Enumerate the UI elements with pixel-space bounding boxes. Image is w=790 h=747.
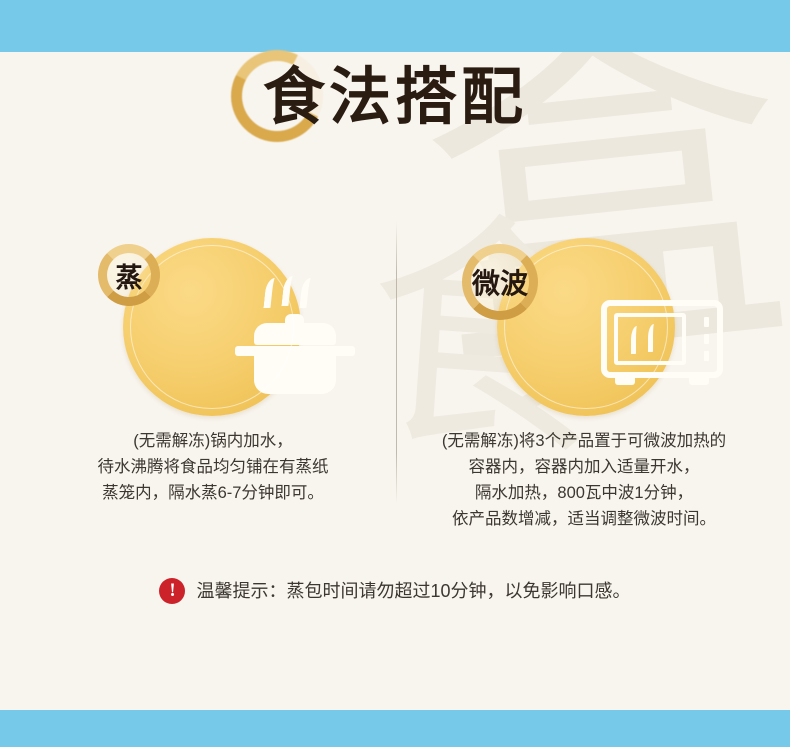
steam-wisp-icon bbox=[263, 278, 280, 308]
microwave-instruction-line: (无需解冻)将3个产品置于可微波加热的 bbox=[414, 428, 754, 454]
steaming-pot-icon bbox=[235, 276, 355, 394]
page-title: 食法搭配 bbox=[263, 60, 527, 136]
microwave-label-text: 微波 bbox=[472, 262, 528, 302]
microwave-door bbox=[614, 313, 686, 365]
steam-wisp-icon bbox=[631, 326, 641, 354]
steam-label-badge: 蒸 bbox=[98, 244, 160, 306]
microwave-control-dash bbox=[704, 351, 709, 361]
steam-wisp-icon bbox=[281, 276, 298, 306]
steam-instruction-line: (无需解冻)锅内加水， bbox=[48, 428, 378, 454]
steam-instruction-line: 蒸笼内，隔水蒸6-7分钟即可。 bbox=[48, 480, 378, 506]
warning-tip: ! 温馨提示：蒸包时间请勿超过10分钟，以免影响口感。 bbox=[0, 578, 790, 604]
microwave-foot bbox=[615, 378, 635, 385]
top-color-band bbox=[0, 0, 790, 52]
section-title: 食法搭配 bbox=[0, 60, 790, 136]
microwave-control-dash bbox=[704, 334, 709, 344]
microwave-instructions: (无需解冻)将3个产品置于可微波加热的 容器内，容器内加入适量开水， 隔水加热，… bbox=[414, 428, 754, 532]
bottom-color-band bbox=[0, 710, 790, 747]
steam-instruction-line: 待水沸腾将食品均匀铺在有蒸纸 bbox=[48, 454, 378, 480]
steam-icon-row: 蒸 bbox=[40, 238, 385, 420]
microwave-icon-row: 微波 bbox=[410, 238, 755, 420]
microwave-label-badge: 微波 bbox=[462, 244, 538, 320]
steam-instructions: (无需解冻)锅内加水， 待水沸腾将食品均匀铺在有蒸纸 蒸笼内，隔水蒸6-7分钟即… bbox=[48, 428, 378, 506]
microwave-oven-icon bbox=[601, 300, 723, 392]
exclamation-icon: ! bbox=[159, 578, 185, 604]
microwave-control-dash bbox=[704, 317, 709, 327]
microwave-instruction-line: 依产品数增减，适当调整微波时间。 bbox=[414, 506, 754, 532]
steam-wisp-icon bbox=[299, 278, 316, 308]
method-block-steam: 蒸 bbox=[40, 238, 385, 420]
warning-tip-text: 温馨提示：蒸包时间请勿超过10分钟，以免影响口感。 bbox=[196, 578, 630, 604]
steam-label-text: 蒸 bbox=[116, 256, 143, 295]
title-inner: 食法搭配 bbox=[263, 60, 527, 136]
pot-lid bbox=[254, 323, 336, 345]
microwave-instruction-line: 隔水加热，800瓦中波1分钟， bbox=[414, 480, 754, 506]
method-block-microwave: 微波 bbox=[410, 238, 755, 420]
microwave-foot bbox=[689, 378, 709, 385]
product-detail-page: 盒 食 食法搭配 蒸 bbox=[0, 0, 790, 747]
steam-wisp-icon bbox=[648, 324, 658, 352]
microwave-instruction-line: 容器内，容器内加入适量开水， bbox=[414, 454, 754, 480]
pot-body bbox=[254, 346, 336, 394]
vertical-divider bbox=[396, 222, 397, 504]
